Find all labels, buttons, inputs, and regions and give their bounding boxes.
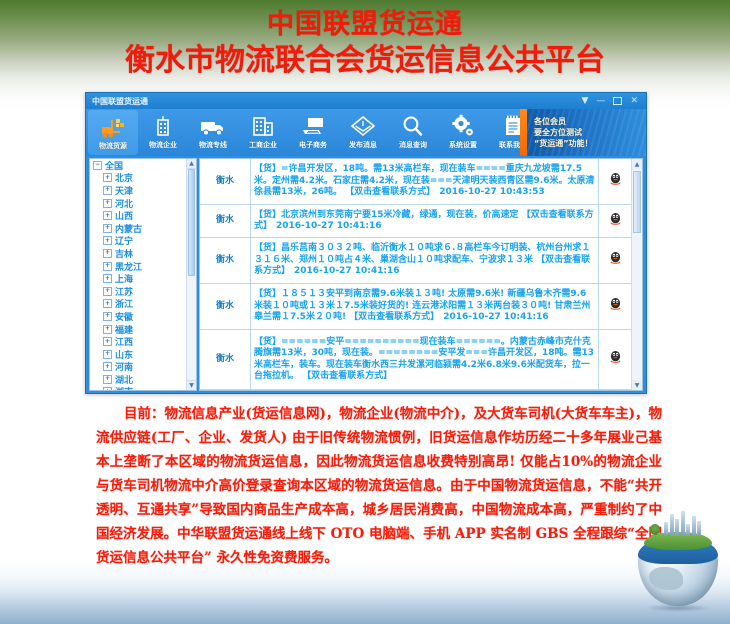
- globe-city-skyline: [664, 510, 702, 536]
- tree-toggle-icon[interactable]: +: [103, 186, 112, 195]
- page-title-line2: 衡水市物流联合会货运信息公共平台: [0, 42, 730, 80]
- table-row[interactable]: 衡水【货】北京滨州到东莞南宁要15米冷藏，绿通，现在装，价高速定 【双击查看联系…: [200, 205, 631, 238]
- tree-node-label: 全国: [105, 159, 123, 172]
- search-icon: [400, 112, 426, 139]
- toolbar-label: 物流企业: [149, 140, 177, 150]
- tree-node-label: 北京: [115, 171, 133, 184]
- tree-toggle-icon[interactable]: +: [103, 337, 112, 346]
- tree-toggle-icon[interactable]: +: [103, 224, 112, 233]
- tree-toggle-icon[interactable]: +: [103, 236, 112, 245]
- toolbar-label: 物流货源: [99, 141, 127, 151]
- tree-toggle-icon[interactable]: +: [103, 274, 112, 283]
- tree-node-label: 吉林: [115, 247, 133, 260]
- tree-node-label: 内蒙古: [115, 222, 142, 235]
- tree-toggle-icon[interactable]: +: [103, 362, 112, 371]
- row-message[interactable]: 【货】======安平==========现在装车======。内蒙古赤峰市克什…: [251, 330, 599, 390]
- window-body: − 全国 +北京+天津+河北+山西+内蒙古+辽宁+吉林+黑龙江+上海+江苏+浙江…: [86, 156, 646, 393]
- region-tree: − 全国 +北京+天津+河北+山西+内蒙古+辽宁+吉林+黑龙江+上海+江苏+浙江…: [89, 158, 197, 391]
- minimize-icon[interactable]: —: [596, 97, 605, 106]
- tree-node-2[interactable]: +天津: [90, 184, 196, 197]
- row-message[interactable]: 【货】１８５１３安平到南京需9.6米装１３吨! 太原需9.6米! 新疆乌鲁木齐需…: [251, 284, 599, 330]
- row-qq-cell[interactable]: [599, 237, 632, 283]
- row-message-text: 【货】======安平==========现在装车======。内蒙古赤峰市克什…: [254, 337, 594, 382]
- qq-penguin-icon[interactable]: [609, 251, 622, 270]
- window-controls: ▼ — ✕: [582, 97, 644, 106]
- tree-node-7[interactable]: +吉林: [90, 247, 196, 260]
- tree-node-label: 湖北: [115, 373, 133, 386]
- qq-penguin-icon[interactable]: [609, 212, 622, 231]
- row-message[interactable]: 【货】昌乐莒南３０３２吨、临沂衡水１０吨求６.８高栏车今订明装、杭州台州求１３１…: [251, 237, 599, 283]
- tree-node-15[interactable]: +山东: [90, 348, 196, 361]
- tree-node-11[interactable]: +浙江: [90, 298, 196, 311]
- row-city: 衡水: [200, 237, 251, 283]
- tree-toggle-icon[interactable]: +: [103, 199, 112, 208]
- tree-toggle-icon[interactable]: +: [103, 249, 112, 258]
- toolbar: 物流货源 物流企业: [86, 109, 646, 156]
- promo-banner-line1: 各位会员: [534, 116, 646, 127]
- row-message[interactable]: 【货】=许昌开发区，18吨。需13米高栏车，现在装车====重庆九龙坡需17.5…: [251, 159, 599, 205]
- toolbar-item-commercial-enterprise[interactable]: 工商企业: [238, 109, 288, 156]
- app-window: 中国联盟货运通 ▼ — ✕: [85, 92, 647, 394]
- promo-paragraph-text: 目前：物流信息产业(货运信息网)，物流企业(物流中介)，及大货车司机(大货车车主…: [96, 402, 662, 570]
- row-timestamp: 2016-10-27 10:41:16: [443, 312, 548, 322]
- tree-node-label: 辽宁: [115, 234, 133, 247]
- toolbar-label: 工商企业: [249, 140, 277, 150]
- tree-node-label: 江苏: [115, 285, 133, 298]
- tree-node-5[interactable]: +内蒙古: [90, 222, 196, 235]
- globe-shadow: [644, 604, 712, 612]
- toolbar-label: 系统设置: [449, 140, 477, 150]
- row-timestamp: 2016-10-27 10:41:16: [276, 221, 381, 231]
- promo-banner[interactable]: 各位会员 要全方位测试 “货运通”功能！: [526, 109, 646, 156]
- toolbar-item-system-settings[interactable]: 系统设置: [438, 109, 488, 156]
- qq-penguin-icon[interactable]: [609, 350, 622, 369]
- row-city: 衡水: [200, 330, 251, 390]
- row-qq-cell[interactable]: [599, 205, 632, 238]
- tree-node-12[interactable]: +安徽: [90, 310, 196, 323]
- tree-node-10[interactable]: +江苏: [90, 285, 196, 298]
- toolbar-item-ecommerce[interactable]: 电子商务: [288, 109, 338, 156]
- tree-node-14[interactable]: +江西: [90, 335, 196, 348]
- promo-paragraph: 目前：物流信息产业(货运信息网)，物流企业(物流中介)，及大货车司机(大货车车主…: [96, 402, 662, 570]
- scroll-up-icon[interactable]: ▲: [187, 159, 196, 169]
- toolbar-item-message-query[interactable]: 消息查询: [388, 109, 438, 156]
- page-title: 中国联盟货运通 衡水市物流联合会货运信息公共平台: [0, 8, 730, 80]
- tree-node-label: 安徽: [115, 310, 133, 323]
- freight-message-list: 衡水【货】=许昌开发区，18吨。需13米高栏车，现在装车====重庆九龙坡需17…: [199, 158, 643, 391]
- tree-node-4[interactable]: +山西: [90, 209, 196, 222]
- dropdown-icon[interactable]: ▼: [582, 97, 589, 106]
- envelope-icon: [350, 112, 376, 139]
- toolbar-item-publish-message[interactable]: 发布消息: [338, 109, 388, 156]
- building-icon: [151, 112, 175, 139]
- row-qq-cell[interactable]: [599, 330, 632, 390]
- tree-toggle-icon[interactable]: +: [103, 211, 112, 220]
- page-root: 中国联盟货运通 衡水市物流联合会货运信息公共平台 中国联盟货运通 ▼ — ✕: [0, 0, 730, 624]
- tree-node-label: 河南: [115, 360, 133, 373]
- row-qq-cell[interactable]: [599, 284, 632, 330]
- table-row[interactable]: 衡水【货】=许昌开发区，18吨。需13米高栏车，现在装车====重庆九龙坡需17…: [200, 159, 631, 205]
- gear-icon: [450, 112, 476, 139]
- tree-node-16[interactable]: +河南: [90, 361, 196, 374]
- qq-penguin-icon[interactable]: [609, 297, 622, 316]
- tree-node-13[interactable]: +福建: [90, 323, 196, 336]
- maximize-icon[interactable]: [613, 97, 622, 105]
- row-city: 衡水: [200, 159, 251, 205]
- tree-node-label: 福建: [115, 323, 133, 336]
- truck-icon: [199, 112, 227, 139]
- scroll-down-icon[interactable]: ▼: [187, 380, 196, 390]
- tree-node-6[interactable]: +辽宁: [90, 235, 196, 248]
- toolbar-label: 发布消息: [349, 140, 377, 150]
- table-row[interactable]: 衡水【货】１８５１３安平到南京需9.6米装１３吨! 太原需9.6米! 新疆乌鲁木…: [200, 284, 631, 330]
- promo-banner-line2: 要全方位测试: [534, 127, 646, 138]
- forklift-icon: [100, 113, 126, 140]
- table-row[interactable]: 衡水【货】======安平==========现在装车======。内蒙古赤峰市…: [200, 330, 631, 390]
- tree-toggle-icon[interactable]: −: [93, 161, 102, 170]
- toolbar-label: 消息查询: [399, 140, 427, 150]
- toolbar-label: 电子商务: [299, 140, 327, 150]
- tree-toggle-icon[interactable]: +: [103, 287, 112, 296]
- table-row[interactable]: 衡水【货】昌乐莒南３０３２吨、临沂衡水１０吨求６.８高栏车今订明装、杭州台州求１…: [200, 237, 631, 283]
- row-city: 衡水: [200, 205, 251, 238]
- list-scrollbar[interactable]: ▲ ▼: [631, 159, 642, 390]
- message-table: 衡水【货】=许昌开发区，18吨。需13米高栏车，现在装车====重庆九龙坡需17…: [200, 159, 631, 390]
- tree-node-1[interactable]: +北京: [90, 172, 196, 185]
- toolbar-label: 物流专线: [199, 140, 227, 150]
- tree-node-nationwide[interactable]: − 全国: [90, 159, 196, 172]
- tree-node-3[interactable]: +河北: [90, 197, 196, 210]
- tree-toggle-icon[interactable]: +: [103, 262, 112, 271]
- row-city: 衡水: [200, 284, 251, 330]
- row-qq-cell[interactable]: [599, 159, 632, 205]
- tree-toggle-icon[interactable]: +: [103, 312, 112, 321]
- promo-banner-line3: “货运通”功能！: [534, 138, 646, 149]
- row-timestamp: 2016-10-27 10:41:16: [294, 266, 399, 276]
- scrollbar-thumb[interactable]: [633, 171, 641, 233]
- office-building-icon: [250, 112, 276, 139]
- tree-toggle-icon[interactable]: +: [103, 387, 112, 391]
- tree-node-label: 黑龙江: [115, 260, 142, 273]
- tree-node-label: 湖南: [115, 385, 133, 391]
- window-titlebar: 中国联盟货运通 ▼ — ✕: [86, 93, 646, 109]
- tree-toggle-icon[interactable]: +: [103, 350, 112, 359]
- tree-node-9[interactable]: +上海: [90, 272, 196, 285]
- tree-toggle-icon[interactable]: +: [103, 173, 112, 182]
- tree-node-label: 天津: [115, 184, 133, 197]
- tree-toggle-icon[interactable]: +: [103, 375, 112, 384]
- scrollbar-thumb[interactable]: [188, 169, 195, 276]
- qq-penguin-icon[interactable]: [609, 172, 622, 191]
- tree-node-label: 河北: [115, 197, 133, 210]
- tree-node-8[interactable]: +黑龙江: [90, 260, 196, 273]
- tree-node-label: 江西: [115, 335, 133, 348]
- toolbar-item-freight-source[interactable]: 物流货源: [88, 110, 138, 155]
- tree-toggle-icon[interactable]: +: [103, 299, 112, 308]
- tree-node-label: 上海: [115, 272, 133, 285]
- globe-tree-icon: [650, 524, 660, 535]
- scroll-down-icon[interactable]: ▼: [632, 380, 642, 390]
- tree-node-label: 浙江: [115, 297, 133, 310]
- computer-icon: [299, 112, 327, 139]
- earth-globe-image: [634, 508, 722, 612]
- page-title-line1: 中国联盟货运通: [0, 8, 730, 42]
- row-message[interactable]: 【货】北京滨州到东莞南宁要15米冷藏，绿通，现在装，价高速定 【双击查看联系方式…: [251, 205, 599, 238]
- close-icon[interactable]: ✕: [630, 97, 638, 106]
- tree-node-17[interactable]: +湖北: [90, 373, 196, 386]
- tree-toggle-icon[interactable]: +: [103, 325, 112, 334]
- toolbar-item-dedicated-line[interactable]: 物流专线: [188, 109, 238, 156]
- tree-node-18[interactable]: +湖南: [90, 386, 196, 391]
- row-timestamp: 2016-10-27 10:43:53: [439, 187, 544, 197]
- tree-node-label: 山西: [115, 209, 133, 222]
- window-title: 中国联盟货运通: [92, 96, 148, 107]
- scroll-up-icon[interactable]: ▲: [632, 159, 642, 169]
- tree-node-label: 山东: [115, 348, 133, 361]
- tree-scrollbar[interactable]: ▲ ▼: [186, 159, 196, 390]
- toolbar-item-logistics-company[interactable]: 物流企业: [138, 109, 188, 156]
